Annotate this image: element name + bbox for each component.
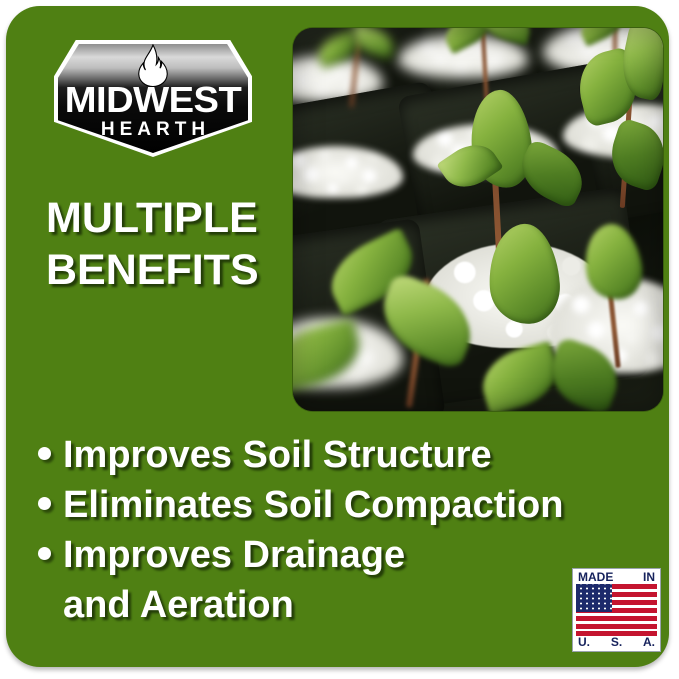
made-in-usa-bottom-row: U. S. A. [576, 636, 657, 649]
seedling-photo [293, 28, 663, 411]
headline: MULTIPLE BENEFITS [46, 192, 286, 296]
logo-text-hearth: HEARTH [54, 118, 252, 142]
flag-canton [576, 584, 612, 612]
logo-text-midwest: MIDWEST [48, 82, 258, 118]
made-label: MADE [578, 571, 613, 584]
product-infographic: MIDWEST HEARTH MULTIPLE BENEFITS [0, 0, 679, 679]
benefit-item-1: Improves Soil Structure [38, 430, 663, 480]
headline-line-2: BENEFITS [46, 244, 286, 296]
benefit-text-3-continuation: and Aeration [38, 580, 663, 630]
bullet-dot-icon [38, 547, 51, 560]
benefit-text-1: Improves Soil Structure [63, 434, 492, 476]
usa-letter-u: U. [578, 636, 590, 649]
benefit-text-2: Eliminates Soil Compaction [63, 484, 563, 526]
bullet-dot-icon [38, 447, 51, 460]
logo-wordmark: MIDWEST HEARTH [54, 82, 252, 142]
benefit-item-2: Eliminates Soil Compaction [38, 480, 663, 530]
made-in-usa-badge: MADE IN U. S. [572, 568, 661, 652]
green-background-panel: MIDWEST HEARTH MULTIPLE BENEFITS [6, 6, 669, 667]
benefit-text-3: Improves Drainage [63, 534, 405, 576]
benefit-item-3: Improves Drainage and Aeration [38, 530, 663, 630]
benefits-list: Improves Soil Structure Eliminates Soil … [38, 430, 663, 630]
bullet-dot-icon [38, 497, 51, 510]
midwest-hearth-logo: MIDWEST HEARTH [54, 40, 252, 157]
in-label: IN [643, 571, 655, 584]
headline-line-1: MULTIPLE [46, 192, 286, 244]
flag-stars [576, 584, 612, 612]
made-in-usa-top-row: MADE IN [576, 571, 657, 584]
usa-letter-a: A. [643, 636, 655, 649]
usa-flag-icon [576, 584, 657, 636]
usa-letter-s: S. [611, 636, 622, 649]
photo-scene [293, 28, 663, 411]
